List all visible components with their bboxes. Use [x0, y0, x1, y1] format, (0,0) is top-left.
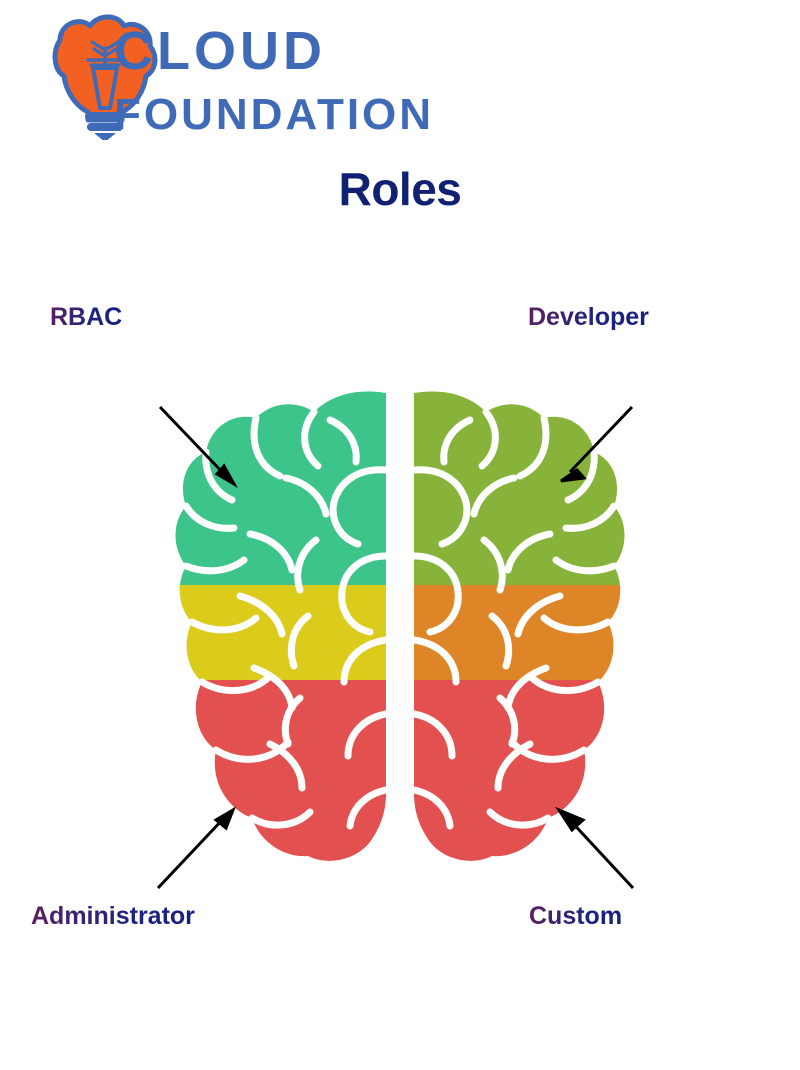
segment-left-temporal — [150, 680, 410, 880]
arrow-administrator — [158, 810, 233, 888]
callout-label-custom: Custom — [529, 902, 622, 931]
arrow-custom — [559, 810, 633, 888]
brain-left-hemisphere — [150, 380, 410, 880]
segment-right-temporal — [390, 680, 650, 880]
callout-label-developer: Developer — [528, 303, 649, 332]
callout-label-administrator: Administrator — [31, 902, 195, 931]
callout-label-rbac: RBAC — [50, 303, 122, 332]
brain-right-hemisphere — [390, 380, 650, 880]
